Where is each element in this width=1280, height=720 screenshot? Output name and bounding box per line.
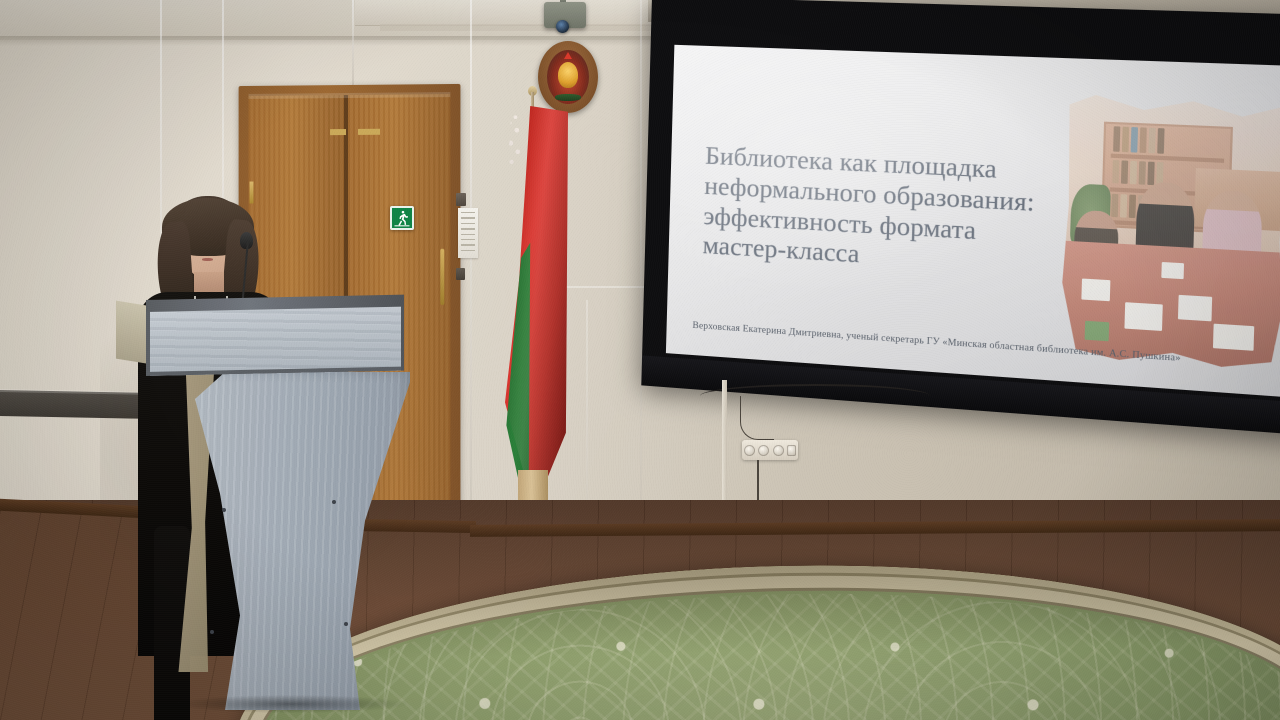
- socket-outlet: [758, 445, 769, 456]
- presentation-slide: Библиотека как площадка неформального об…: [666, 45, 1280, 399]
- podium-floor-shadow: [176, 695, 406, 713]
- emergency-exit-sign: [390, 206, 414, 230]
- socket-switch: [787, 445, 796, 456]
- projection-screen: Библиотека как площадка неформального об…: [641, 0, 1280, 436]
- photo-projection-wash: [1058, 94, 1280, 371]
- running-man-exit-icon: [393, 209, 411, 227]
- wall-outlet-small[interactable]: [456, 268, 465, 280]
- ceiling-shadow: [0, 36, 700, 46]
- socket-outlet: [744, 445, 755, 456]
- hanging-cable-loop: [740, 396, 774, 440]
- wall-power-socket[interactable]: [742, 440, 798, 460]
- slide-surface: Библиотека как площадка неформального об…: [666, 45, 1280, 399]
- door-handle[interactable]: [440, 249, 444, 305]
- coat-of-arms-plaque: [538, 41, 598, 113]
- podium-front-panel: [146, 305, 404, 376]
- slide-photo: [1058, 94, 1280, 371]
- emblem-base-band: [555, 94, 581, 101]
- door-closer-bracket: [358, 129, 380, 135]
- emblem-sun-icon: [558, 62, 578, 88]
- door-closer-bracket: [330, 129, 346, 135]
- podium-screw: [332, 500, 336, 504]
- emblem-star-icon: [564, 52, 572, 59]
- slide-title: Библиотека как площадка неформального об…: [702, 140, 1048, 280]
- socket-outlet: [773, 445, 784, 456]
- podium-screw: [222, 508, 226, 512]
- podium-screw: [210, 630, 214, 634]
- coat-of-arms-face: [547, 50, 589, 104]
- projector-lens-icon: [556, 20, 569, 33]
- presenter-mouth: [202, 258, 213, 261]
- ceiling-beam-secondary: [380, 24, 680, 31]
- wall-notice-paper: [458, 208, 478, 258]
- podium-screw: [344, 622, 348, 626]
- conference-room-photo: Библиотека как площадка неформального об…: [0, 0, 1280, 720]
- wall-panel-seam: [352, 0, 354, 86]
- podium: [116, 300, 404, 700]
- light-switch[interactable]: [456, 193, 466, 206]
